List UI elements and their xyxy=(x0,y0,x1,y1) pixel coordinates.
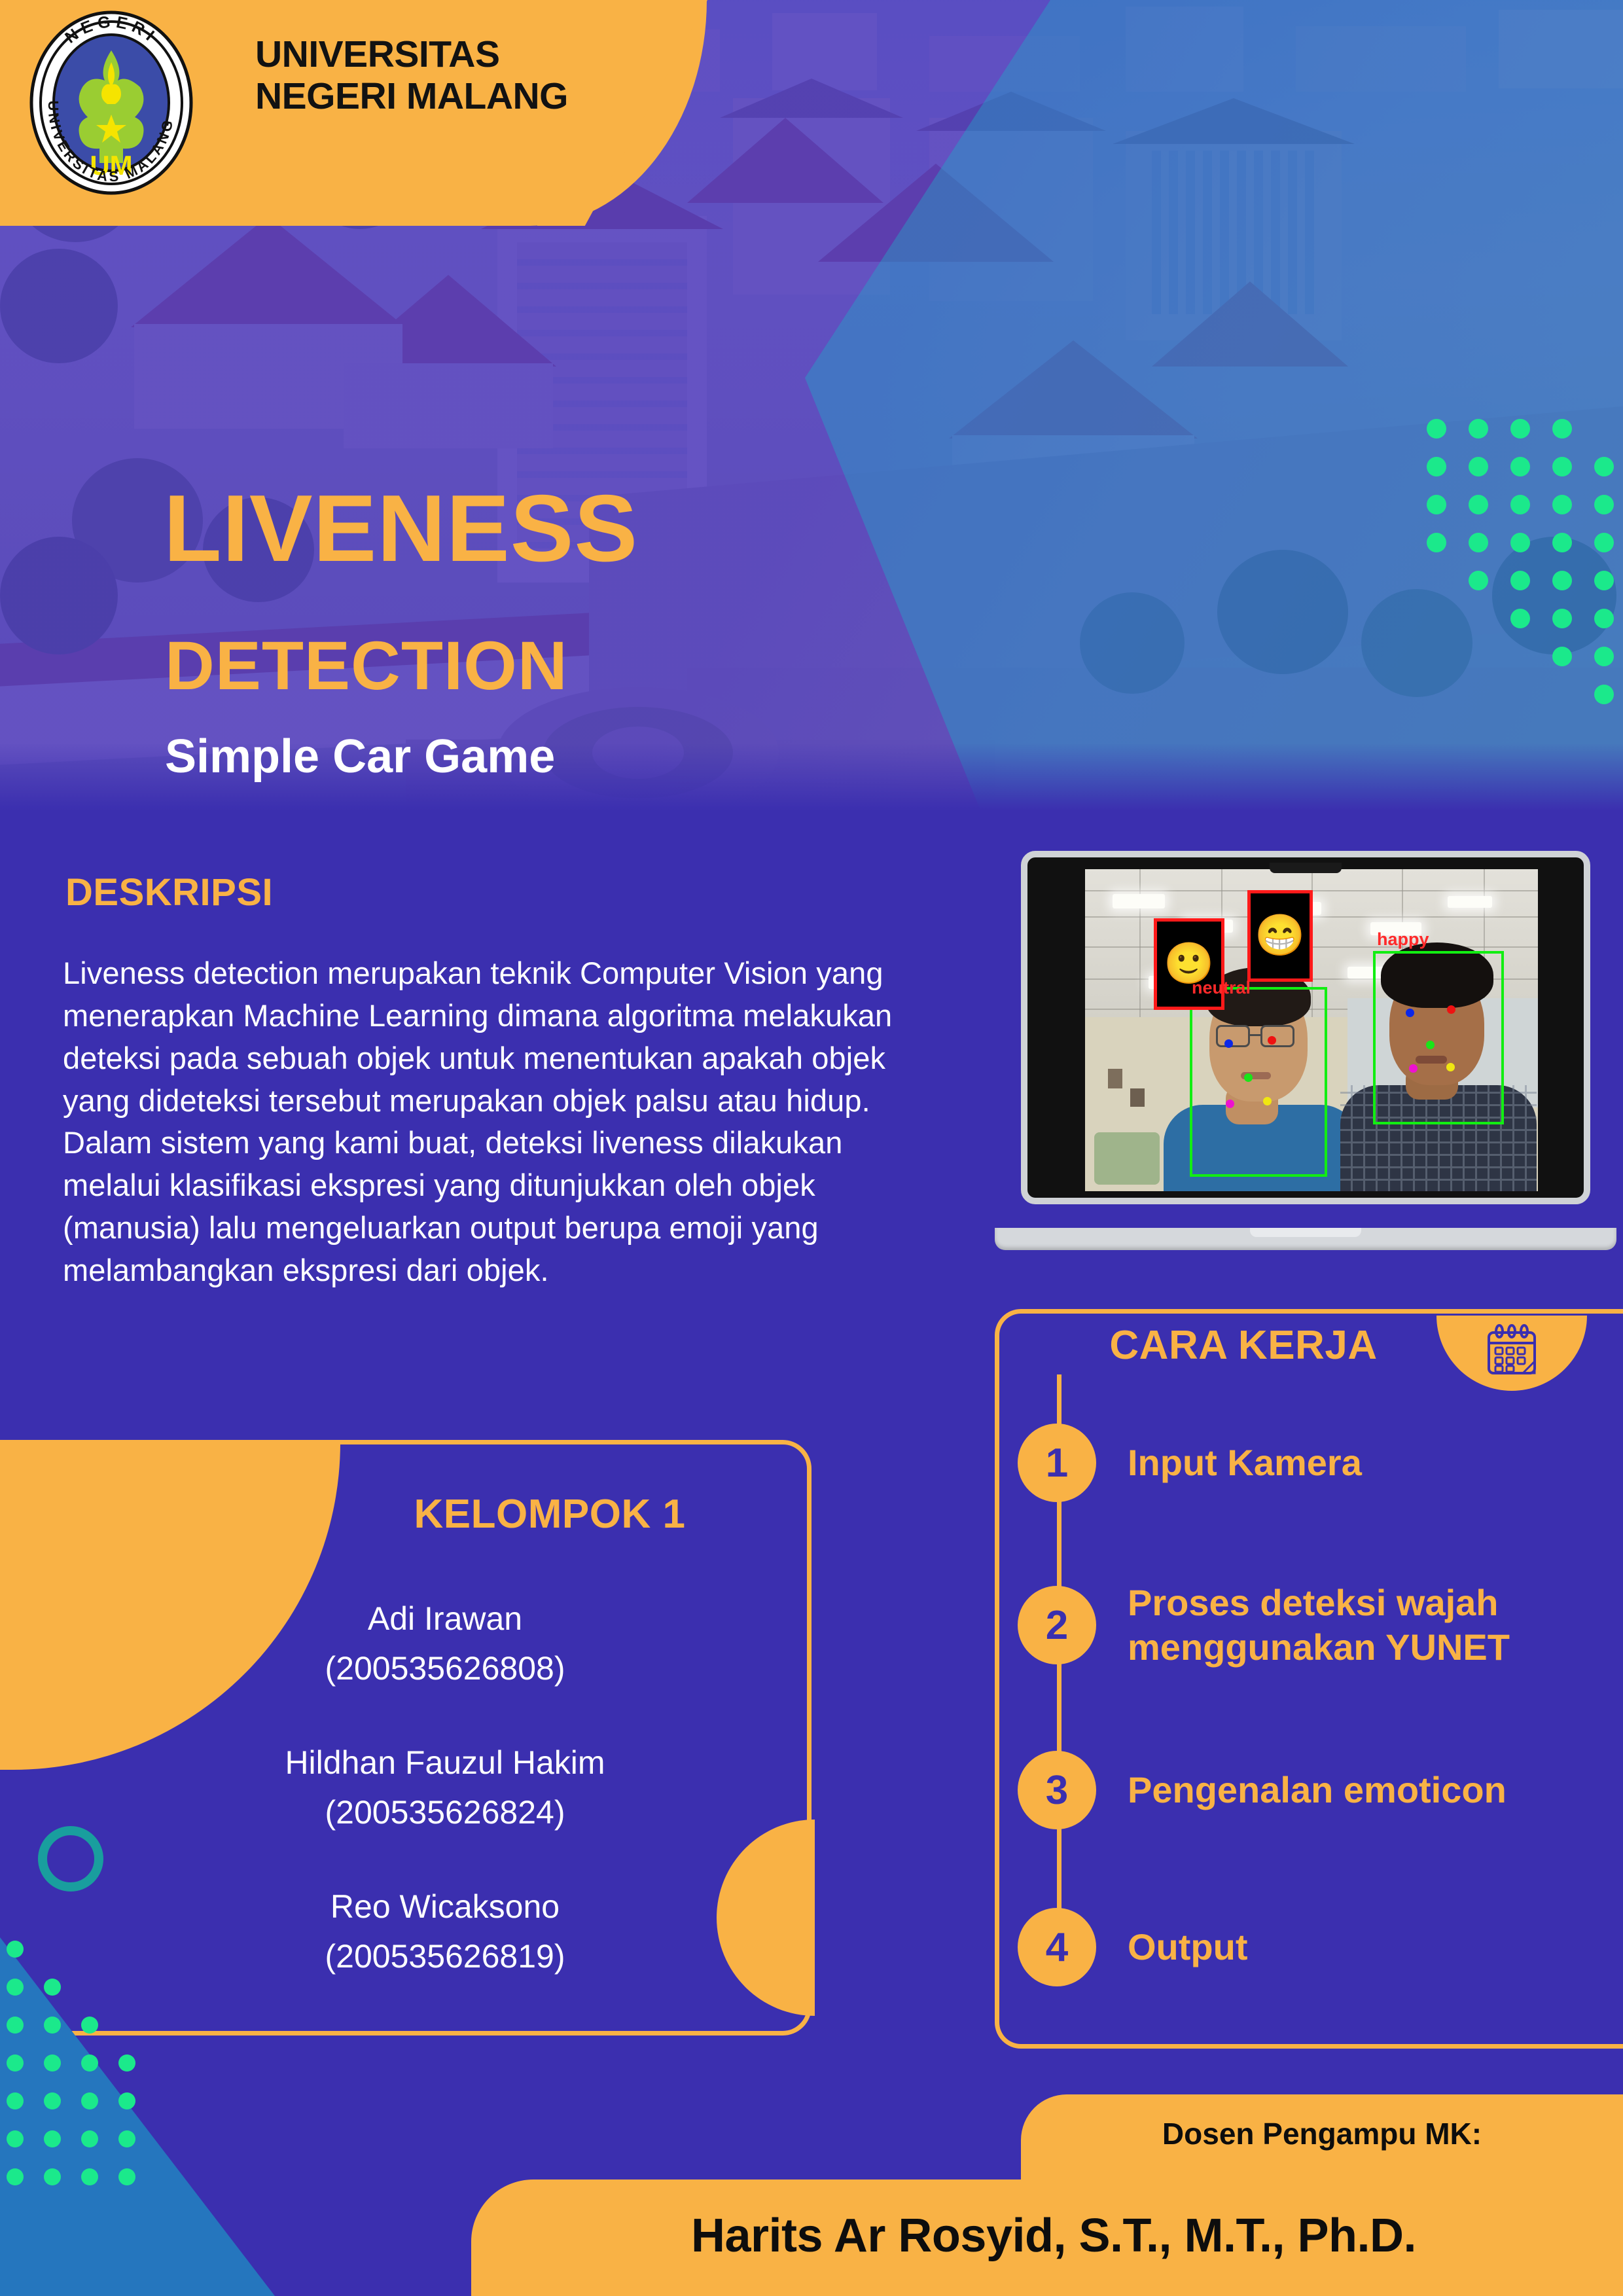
decorative-dot xyxy=(44,2054,61,2072)
decorative-dot xyxy=(44,2130,61,2147)
laptop-lid: 🙂 😁 neutral happy xyxy=(1021,851,1590,1204)
description-body: Liveness detection merupakan teknik Comp… xyxy=(63,952,933,1292)
university-name: UNIVERSITAS NEGERI MALANG xyxy=(255,34,568,118)
decorative-dot xyxy=(1510,609,1530,628)
decorative-dot xyxy=(1552,533,1572,552)
decorative-dot xyxy=(81,2017,98,2034)
decorative-dot xyxy=(1427,495,1446,514)
member-2-name: Hildhan Fauzul Hakim xyxy=(118,1738,772,1787)
university-name-line2: NEGERI MALANG xyxy=(255,76,568,118)
decorative-dot xyxy=(1427,419,1446,439)
decorative-dot xyxy=(81,2092,98,2109)
decorative-dot xyxy=(1427,457,1446,476)
decorative-dot xyxy=(7,2017,24,2034)
decorative-dot xyxy=(44,2168,61,2185)
landmark-point xyxy=(1406,1009,1414,1017)
step-item-3: 3 Pengenalan emoticon xyxy=(1018,1751,1594,1829)
member-1-nim: (200535626808) xyxy=(118,1643,772,1693)
decorative-dot xyxy=(1594,609,1614,628)
decorative-dot xyxy=(44,2092,61,2109)
decorative-dot xyxy=(7,2092,24,2109)
member-2-nim: (200535626824) xyxy=(118,1787,772,1837)
decorative-dot xyxy=(7,2130,24,2147)
decorative-dot xyxy=(1552,609,1572,628)
emoji-result-happy: 😁 xyxy=(1247,890,1313,982)
member-1: Adi Irawan (200535626808) xyxy=(118,1594,772,1693)
step-item-2: 2 Proses deteksi wajah menggunakan YUNET xyxy=(1018,1581,1594,1670)
decorative-dot xyxy=(118,2168,135,2185)
landmark-point xyxy=(1426,1041,1435,1049)
laptop-base xyxy=(995,1228,1616,1250)
poster-title-line1: LIVENESS xyxy=(164,481,638,576)
decorative-dot xyxy=(1552,419,1572,439)
decorative-dot xyxy=(1594,647,1614,666)
face-bounding-box-left xyxy=(1190,987,1327,1177)
landmark-point xyxy=(1409,1064,1418,1073)
laptop-base-notch xyxy=(1250,1228,1361,1237)
landmark-point xyxy=(1226,1100,1234,1108)
decorative-dot xyxy=(44,1979,61,1996)
decorative-dot xyxy=(1594,685,1614,704)
step-label-3: Pengenalan emoticon xyxy=(1128,1768,1507,1812)
decorative-dot xyxy=(118,2130,135,2147)
laptop-screen: 🙂 😁 neutral happy xyxy=(1085,869,1538,1191)
teal-ring-decoration xyxy=(38,1826,103,1892)
decorative-dot xyxy=(1469,495,1488,514)
landmark-point xyxy=(1224,1039,1233,1048)
green-dot-grid-top-right xyxy=(1427,419,1623,707)
detection-label-neutral: neutral xyxy=(1192,978,1251,998)
decorative-dot xyxy=(44,2017,61,2034)
decorative-dot xyxy=(1594,457,1614,476)
poster-root: UM NEGERI UNIVERSITAS MALANG UNIVERSITAS… xyxy=(0,0,1623,2296)
decorative-dot xyxy=(1552,495,1572,514)
step-number-1: 1 xyxy=(1018,1424,1096,1502)
decorative-dot xyxy=(1469,457,1488,476)
decorative-dot xyxy=(1552,571,1572,590)
laptop-webcam-notch xyxy=(1270,863,1342,873)
decorative-dot xyxy=(81,2054,98,2072)
step-item-1: 1 Input Kamera xyxy=(1018,1424,1594,1502)
description-heading: DESKRIPSI xyxy=(65,870,273,914)
member-2: Hildhan Fauzul Hakim (200535626824) xyxy=(118,1738,772,1837)
decorative-dot xyxy=(1552,457,1572,476)
decorative-dot xyxy=(118,2092,135,2109)
decorative-dot xyxy=(1469,419,1488,439)
office-chair xyxy=(1094,1132,1160,1185)
decorative-dot xyxy=(1469,533,1488,552)
laptop-demo-mockup: 🙂 😁 neutral happy xyxy=(995,851,1616,1250)
decorative-dot xyxy=(7,2054,24,2072)
decorative-dot xyxy=(1594,571,1614,590)
poster-subtitle: Simple Car Game xyxy=(165,733,555,780)
decorative-dot xyxy=(1594,495,1614,514)
decorative-dot xyxy=(1510,571,1530,590)
landmark-point xyxy=(1446,1063,1455,1071)
lecturer-name: Harits Ar Rosyid, S.T., M.T., Ph.D. xyxy=(497,2209,1610,2263)
poster-title-line2: DETECTION xyxy=(165,632,568,700)
decorative-dot xyxy=(1510,533,1530,552)
decorative-dot xyxy=(7,2168,24,2185)
decorative-dot xyxy=(118,2054,135,2072)
detection-label-happy: happy xyxy=(1377,929,1429,950)
face-bounding-box-right xyxy=(1373,951,1504,1124)
university-name-line1: UNIVERSITAS xyxy=(255,34,568,76)
decorative-dot xyxy=(7,1941,24,1958)
decorative-dot xyxy=(81,2130,98,2147)
landmark-point xyxy=(1268,1036,1276,1045)
calendar-icon xyxy=(1482,1322,1541,1381)
decorative-dot xyxy=(1510,457,1530,476)
step-item-4: 4 Output xyxy=(1018,1908,1594,1986)
cara-kerja-heading: CARA KERJA xyxy=(1060,1322,1427,1369)
step-label-1: Input Kamera xyxy=(1128,1441,1362,1485)
member-1-name: Adi Irawan xyxy=(118,1594,772,1643)
decorative-dot xyxy=(1510,419,1530,439)
landmark-point xyxy=(1263,1097,1272,1105)
decorative-dot xyxy=(1552,647,1572,666)
decorative-dot xyxy=(81,2168,98,2185)
decorative-dot xyxy=(1427,533,1446,552)
universitas-negeri-malang-logo: UM NEGERI UNIVERSITAS MALANG xyxy=(26,10,196,196)
landmark-point xyxy=(1244,1073,1253,1082)
webcam-feed: 🙂 😁 neutral happy xyxy=(1085,869,1538,1191)
decorative-dot xyxy=(1594,533,1614,552)
landmark-point xyxy=(1447,1005,1455,1014)
step-number-3: 3 xyxy=(1018,1751,1096,1829)
decorative-dot xyxy=(7,1979,24,1996)
kelompok-heading: KELOMPOK 1 xyxy=(288,1491,811,1537)
member-3-name: Reo Wicaksono xyxy=(118,1882,772,1931)
decorative-dot xyxy=(1469,571,1488,590)
lecturer-label: Dosen Pengampu MK: xyxy=(1021,2116,1623,2151)
grinning-face-icon: 😁 xyxy=(1255,916,1305,956)
green-dot-grid-bottom-left xyxy=(7,1941,268,2294)
step-label-2: Proses deteksi wajah menggunakan YUNET xyxy=(1128,1581,1573,1670)
step-number-4: 4 xyxy=(1018,1908,1096,1986)
decorative-dot xyxy=(1510,495,1530,514)
step-label-4: Output xyxy=(1128,1925,1247,1969)
step-number-2: 2 xyxy=(1018,1586,1096,1664)
